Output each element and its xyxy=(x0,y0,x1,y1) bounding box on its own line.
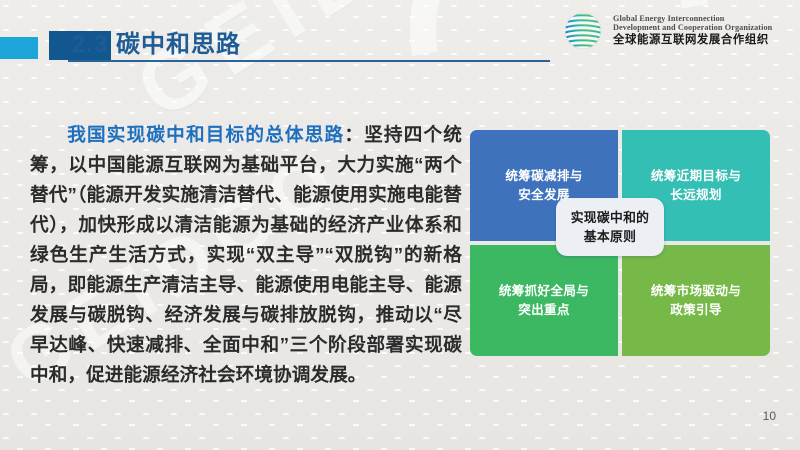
quadrant-bottom-right[interactable]: 统筹市场驱动与 政策引导 xyxy=(622,245,770,356)
quadrant-top-right-line-2: 长远规划 xyxy=(670,188,722,202)
logo-english-line-2: Development and Cooperation Organization xyxy=(613,24,772,33)
logo-chinese-name: 全球能源互联网发展合作组织 xyxy=(613,35,772,47)
quadrant-bottom-left[interactable]: 统筹抓好全局与 突出重点 xyxy=(470,245,618,356)
paragraph-lead-in: 我国实现碳中和目标的总体思路 xyxy=(67,124,344,145)
quadrant-bottom-right-line-2: 政策引导 xyxy=(670,303,722,317)
diagram-center-label: 实现碳中和的 基本原则 xyxy=(556,198,664,256)
principles-diagram: 统筹碳减排与 安全发展 统筹近期目标与 长远规划 统筹抓好全局与 突出重点 统筹… xyxy=(470,130,770,356)
geidco-watermark: GEIDCO xyxy=(120,0,531,139)
paragraph-body-text: ：坚持四个统筹，以中国能源互联网为基础平台，大力实施“两个替代”（能源开发实施清… xyxy=(30,124,462,385)
page-number: 10 xyxy=(763,409,776,423)
slide-canvas: GEIDCO GEIDCO 2.3 碳中和思路 xyxy=(0,0,800,450)
header-accent-square-cyan xyxy=(0,37,38,59)
center-label-line-2: 基本原则 xyxy=(584,229,636,244)
globe-icon xyxy=(560,8,606,54)
center-label-line-1: 实现碳中和的 xyxy=(571,210,650,225)
quadrant-top-left-line-1: 统筹碳减排与 xyxy=(505,169,582,183)
title-divider xyxy=(68,60,550,62)
quadrant-top-right-line-1: 统筹近期目标与 xyxy=(651,169,741,183)
quadrant-bottom-right-line-1: 统筹市场驱动与 xyxy=(651,284,741,298)
organization-logo: Global Energy Interconnection Developmen… xyxy=(560,8,772,54)
quadrant-bottom-left-line-2: 突出重点 xyxy=(518,303,570,317)
page-title: 2.3 碳中和思路 xyxy=(72,24,241,59)
quadrant-bottom-left-line-1: 统筹抓好全局与 xyxy=(499,284,589,298)
body-paragraph: 我国实现碳中和目标的总体思路：坚持四个统筹，以中国能源互联网为基础平台，大力实施… xyxy=(30,120,462,390)
